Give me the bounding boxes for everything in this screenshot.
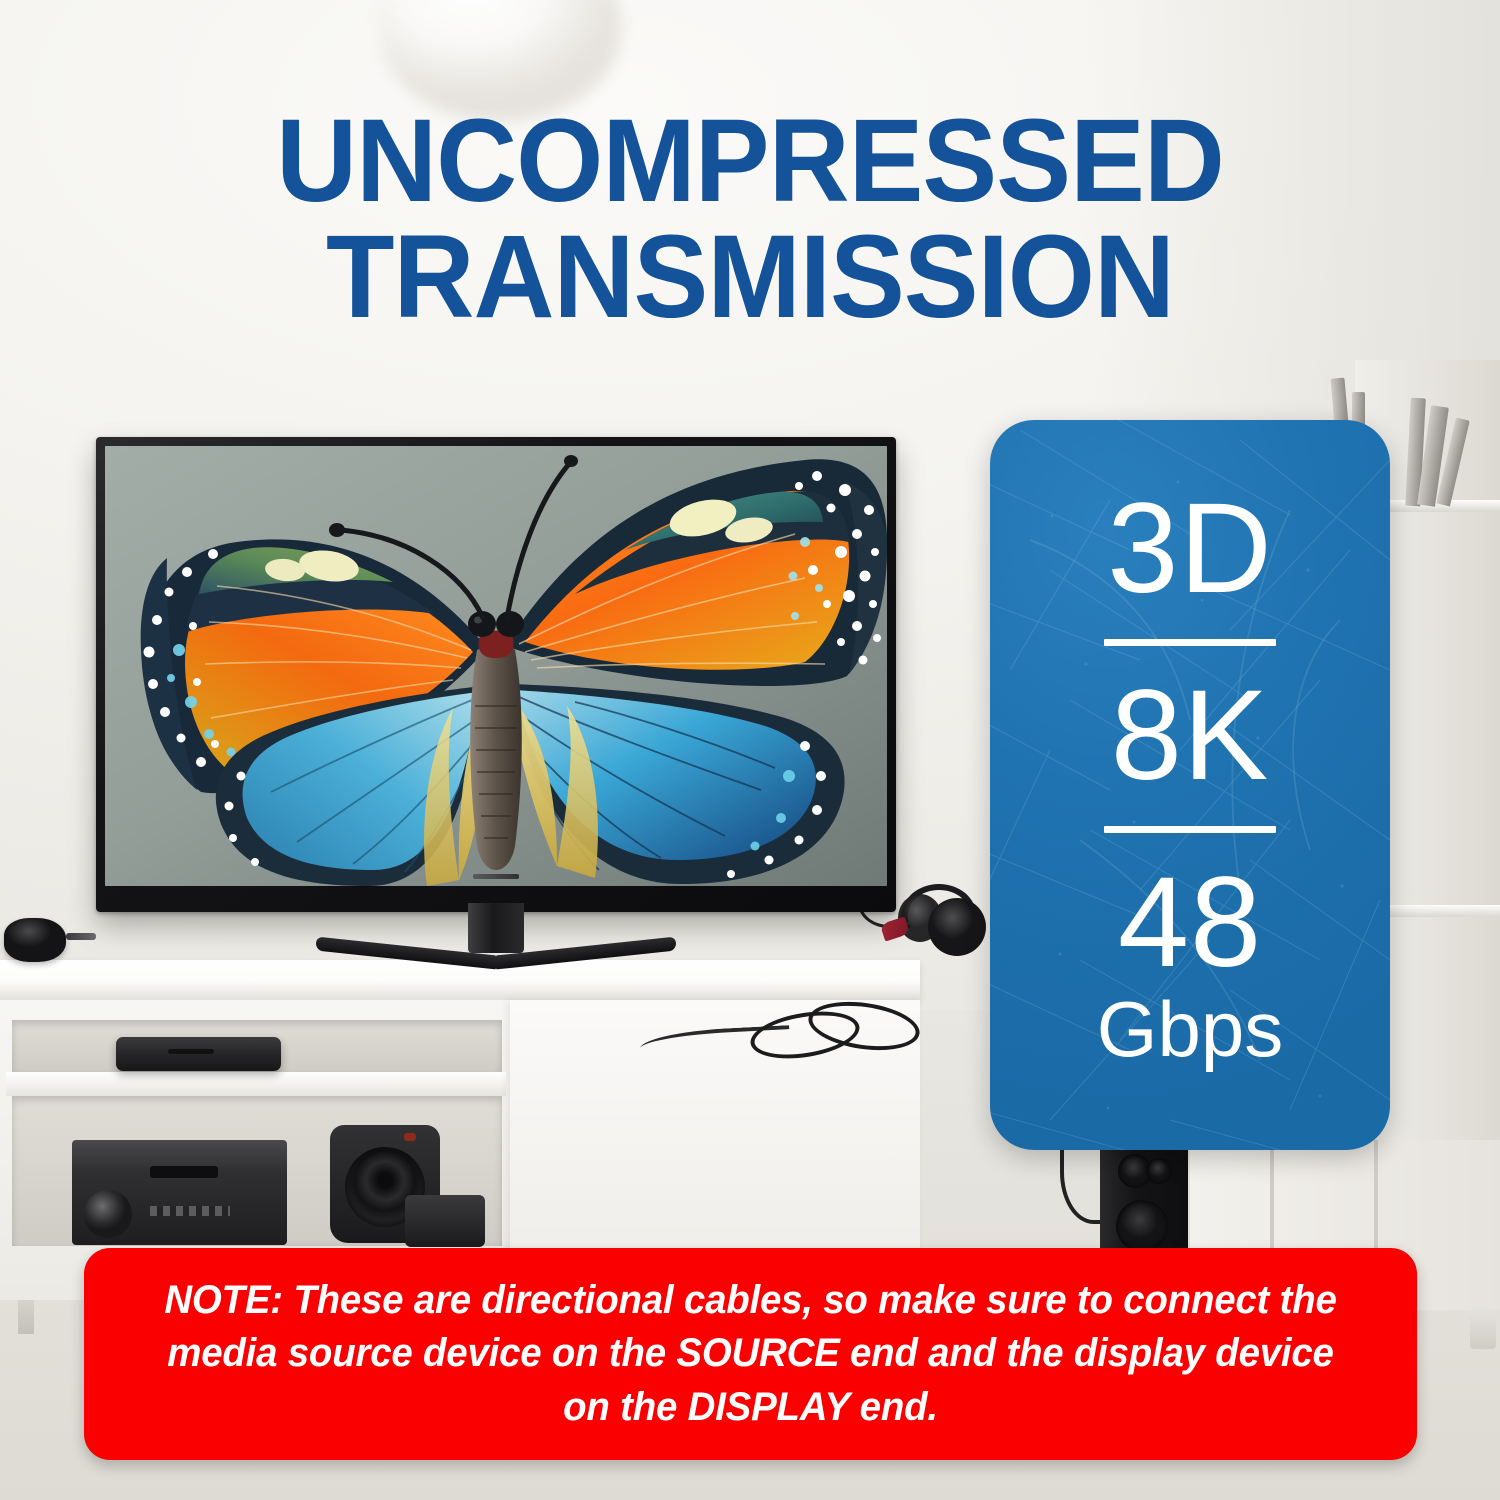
spec-value-8k: 8K	[1111, 672, 1270, 800]
spec-badge-content: 3D 8K 48 Gbps	[990, 420, 1390, 1150]
spec-divider	[1104, 639, 1276, 646]
headline-line-1: UNCOMPRESSED	[276, 95, 1224, 227]
speaker-driver	[1116, 1200, 1168, 1252]
coiled-cable	[640, 995, 920, 1065]
tv-screen	[105, 446, 887, 886]
note-banner: NOTE: These are directional cables, so m…	[84, 1248, 1417, 1460]
television	[96, 437, 896, 912]
console-leg	[18, 1300, 34, 1334]
spec-value-bandwidth: 48	[1118, 859, 1262, 987]
av-receiver	[72, 1140, 287, 1245]
spec-value-3d: 3D	[1107, 485, 1273, 613]
cabinet-foot	[1470, 1305, 1496, 1349]
product-marketing-graphic: UNCOMPRESSED TRANSMISSION	[0, 0, 1500, 1500]
set-top-box	[116, 1037, 281, 1071]
console-shelf-divider	[6, 1072, 506, 1096]
headline-line-2: TRANSMISSION	[38, 220, 1463, 336]
speaker-led	[404, 1133, 416, 1141]
tv-stand-foot	[316, 942, 676, 980]
page-title: UNCOMPRESSED TRANSMISSION	[38, 104, 1463, 335]
note-banner-text: NOTE: These are directional cables, so m…	[153, 1274, 1348, 1435]
tv-bezel	[96, 437, 896, 912]
remote-device	[405, 1195, 485, 1247]
tv-brand-logo	[473, 874, 519, 879]
receiver-disc-slot	[150, 1166, 218, 1178]
left-speaker	[4, 918, 66, 962]
headphone-earcup	[928, 898, 986, 956]
spec-unit-bandwidth: Gbps	[1097, 989, 1283, 1071]
butterfly-image	[105, 446, 887, 886]
butterfly-body	[470, 644, 522, 870]
spec-divider	[1104, 826, 1276, 833]
speaker-driver	[1146, 1158, 1172, 1184]
spec-badge: 3D 8K 48 Gbps	[990, 420, 1390, 1150]
headphones	[880, 880, 990, 960]
speaker-plug	[66, 933, 96, 940]
receiver-knob	[84, 1190, 132, 1238]
receiver-buttons	[150, 1206, 230, 1216]
